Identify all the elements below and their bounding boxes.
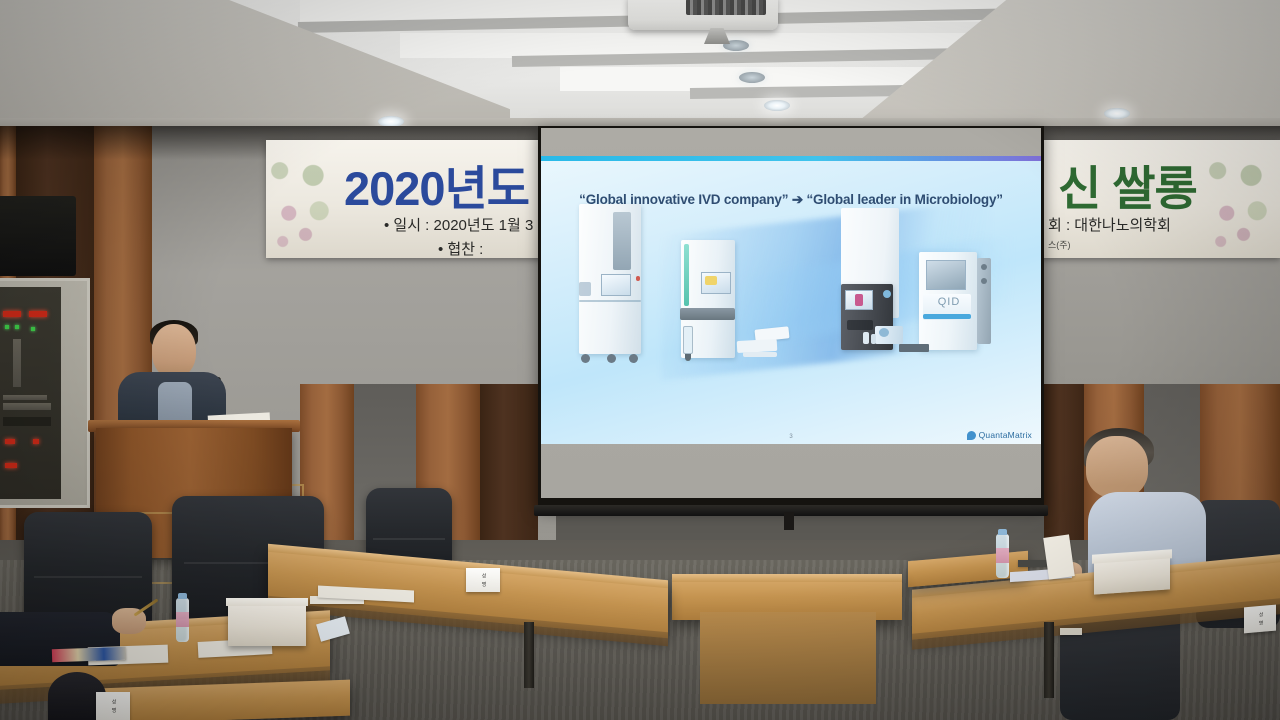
projection-screen: “Global innovative IVD company” ➔ “Globa…: [538, 126, 1044, 508]
downlight-icon: [739, 72, 765, 83]
lunch-box[interactable]: [1094, 555, 1170, 594]
wall-speaker: [0, 196, 76, 276]
rack-status-led: [5, 325, 9, 329]
lunch-box[interactable]: [228, 602, 306, 646]
banner-right: 신 쌀롱 회 : 대한나노의학회 스(주): [1040, 140, 1280, 258]
banner-left-line1: • 일시 : 2020년도 1월 3: [384, 214, 533, 235]
banner-right-line2: 스(주): [1048, 238, 1071, 251]
name-card[interactable]: 성 명: [466, 568, 500, 592]
speaker-head: [152, 324, 196, 378]
slide-accent-bar: [541, 156, 1041, 161]
qid-label: QID: [929, 296, 969, 308]
rack-led-display: [3, 311, 21, 317]
instrument-qid: QID: [919, 240, 993, 350]
bottle-label: [996, 548, 1009, 563]
banner-right-title: 신 쌀롱: [1058, 150, 1197, 219]
av-equipment-rack: [0, 278, 90, 508]
rack-led-display: [5, 439, 15, 444]
instrument-drast: [579, 204, 641, 372]
table-label: [1060, 628, 1082, 635]
rack-slot: [3, 403, 51, 410]
table-leg: [524, 622, 534, 688]
quantamatrix-wordmark: QuantaMatrix: [979, 430, 1032, 440]
rack-slot: [13, 339, 21, 387]
attendee-right-head: [1086, 436, 1148, 498]
booklet[interactable]: [52, 647, 126, 663]
rack-slot: [3, 395, 47, 400]
table-center-panel: [700, 612, 876, 704]
floral-decoration: [1204, 140, 1280, 258]
presentation-slide: “Global innovative IVD company” ➔ “Globa…: [541, 156, 1041, 444]
projector-ports: [686, 0, 766, 15]
instrument-qma: [675, 240, 735, 364]
conference-room-scene: 2020년도 • 일시 : 2020년도 1월 3 • 협찬 : 신 쌀롱 회 …: [0, 0, 1280, 720]
banner-right-line1: 회 : 대한나노의학회: [1048, 214, 1171, 235]
water-bottle[interactable]: [996, 534, 1009, 578]
floral-decoration: [266, 140, 342, 258]
quantamatrix-logo: QuantaMatrix: [967, 430, 1032, 440]
banner-left: 2020년도 • 일시 : 2020년도 1월 3 • 협찬 :: [266, 140, 556, 258]
name-card-text: 성 명: [1257, 611, 1264, 626]
rack-slot: [3, 417, 51, 426]
rack-led-display: [5, 463, 17, 468]
downlight-icon: [764, 100, 790, 111]
bottle-cap: [998, 529, 1007, 535]
name-card-text: 성 명: [480, 573, 487, 587]
rack-status-led: [15, 325, 19, 329]
downlight-icon: [1104, 108, 1130, 119]
lunch-box-lid: [226, 598, 308, 606]
name-card[interactable]: 성 명: [96, 692, 130, 720]
rack-status-led: [31, 327, 35, 331]
rack-led-display: [33, 439, 39, 444]
name-card[interactable]: 성 명: [1244, 605, 1276, 634]
quantamatrix-mark-icon: [967, 431, 976, 440]
rack-interior: [0, 287, 61, 499]
table-leg: [1044, 622, 1054, 698]
banner-left-title: 2020년도: [344, 150, 529, 219]
screen-support-pole: [784, 512, 794, 530]
name-card-text: 성 명: [110, 699, 117, 713]
table-center-edge: [672, 574, 902, 582]
rack-led-display: [29, 311, 47, 317]
banner-left-line2: • 협찬 :: [438, 238, 483, 258]
ceiling-projector: [628, 0, 778, 30]
